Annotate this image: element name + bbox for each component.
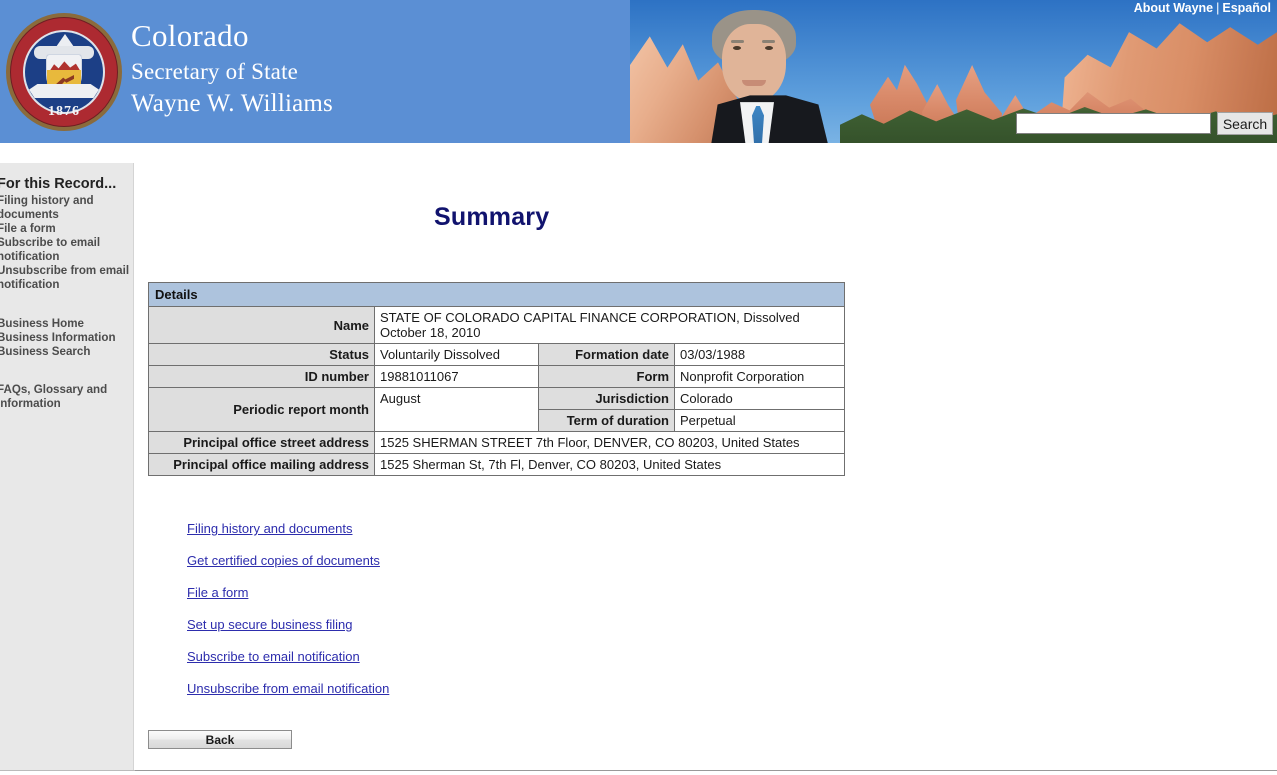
left-sidebar: For this Record... Filing history and do… [0, 163, 134, 770]
sidebar-item-business-home[interactable]: Business Home [0, 317, 134, 331]
label-jurisdiction: Jurisdiction [539, 388, 675, 410]
sidebar-item-subscribe-line2[interactable]: notification [0, 250, 134, 264]
value-status: Voluntarily Dissolved [375, 344, 539, 366]
sidebar-item-filing-history-line2[interactable]: documents [0, 208, 134, 222]
link-file-a-form[interactable]: File a form [187, 585, 248, 600]
table-row-id-form: ID number 19881011067 Form Nonprofit Cor… [149, 366, 845, 388]
label-street-address: Principal office street address [149, 432, 375, 454]
table-row-periodic-jurisdiction: Periodic report month August Jurisdictio… [149, 388, 845, 410]
sidebar-item-business-search[interactable]: Business Search [0, 345, 134, 359]
portrait-face [722, 24, 786, 102]
sidebar-spacer-1 [0, 292, 134, 317]
sidebar-item-unsubscribe-line2[interactable]: notification [0, 278, 134, 292]
value-street-address: 1525 SHERMAN STREET 7th Floor, DENVER, C… [375, 432, 845, 454]
table-row-status-formation: Status Voluntarily Dissolved Formation d… [149, 344, 845, 366]
value-form: Nonprofit Corporation [675, 366, 845, 388]
value-periodic-report-month: August [375, 388, 539, 432]
header-utility-links: About Wayne|Español [1134, 1, 1271, 15]
brand-line-office: Secretary of State [131, 60, 333, 83]
sidebar-item-faqs-line2[interactable]: Information [0, 397, 134, 411]
utility-link-separator: | [1213, 1, 1222, 15]
link-set-up-secure-business-filing[interactable]: Set up secure business filing [187, 617, 352, 632]
colorado-state-seal-icon: 1876 [6, 8, 122, 136]
site-header-banner: 1876 Colorado Secretary of State Wayne W… [0, 0, 1277, 143]
link-filing-history-and-documents[interactable]: Filing history and documents [187, 521, 352, 536]
sidebar-spacer-2 [0, 358, 134, 383]
sidebar-heading-for-this-record: For this Record... [0, 177, 134, 192]
search-button[interactable]: Search [1217, 112, 1273, 135]
label-term-of-duration: Term of duration [539, 410, 675, 432]
brand-line-colorado: Colorado [131, 20, 333, 51]
sidebar-bottom-divider [0, 770, 135, 771]
action-links-list: Filing history and documents Get certifi… [187, 521, 389, 713]
sidebar-item-filing-history-line1[interactable]: Filing history and [0, 194, 134, 208]
label-form: Form [539, 366, 675, 388]
sidebar-content: For this Record... Filing history and do… [0, 177, 134, 411]
portrait-brow-left [731, 40, 744, 43]
link-subscribe-email-notification[interactable]: Subscribe to email notification [187, 649, 360, 664]
portrait-eye-left [733, 46, 741, 50]
value-formation-date: 03/03/1988 [675, 344, 845, 366]
table-header-row: Details [149, 283, 845, 307]
table-row-street-address: Principal office street address 1525 SHE… [149, 432, 845, 454]
link-unsubscribe-email-notification[interactable]: Unsubscribe from email notification [187, 681, 389, 696]
value-jurisdiction: Colorado [675, 388, 845, 410]
sidebar-item-business-information[interactable]: Business Information [0, 331, 134, 345]
sidebar-item-faqs-line1[interactable]: FAQs, Glossary and [0, 383, 134, 397]
portrait-brow-right [762, 40, 775, 43]
value-mailing-address: 1525 Sherman St, 7th Fl, Denver, CO 8020… [375, 454, 845, 476]
table-row-name: Name STATE OF COLORADO CAPITAL FINANCE C… [149, 307, 845, 344]
label-id-number: ID number [149, 366, 375, 388]
search-input[interactable] [1016, 113, 1211, 134]
value-name: STATE OF COLORADO CAPITAL FINANCE CORPOR… [375, 307, 845, 344]
espanol-link[interactable]: Español [1222, 1, 1271, 15]
secretary-portrait [670, 6, 870, 143]
footer-divider [135, 770, 1277, 771]
portrait-mouth [742, 80, 766, 86]
back-button[interactable]: Back [148, 730, 292, 749]
site-branding: Colorado Secretary of State Wayne W. Wil… [131, 20, 333, 116]
table-row-mailing-address: Principal office mailing address 1525 Sh… [149, 454, 845, 476]
label-mailing-address: Principal office mailing address [149, 454, 375, 476]
portrait-eye-right [765, 46, 773, 50]
label-name: Name [149, 307, 375, 344]
seal-motto-ribbon [29, 84, 99, 98]
main-content: Summary Details Name STATE OF COLORADO C… [135, 143, 1277, 775]
about-wayne-link[interactable]: About Wayne [1134, 1, 1213, 15]
sidebar-item-unsubscribe-line1[interactable]: Unsubscribe from email [0, 264, 134, 278]
table-header-details: Details [149, 283, 845, 307]
sidebar-item-file-a-form[interactable]: File a form [0, 222, 134, 236]
sidebar-item-subscribe-line1[interactable]: Subscribe to email [0, 236, 134, 250]
label-formation-date: Formation date [539, 344, 675, 366]
label-status: Status [149, 344, 375, 366]
value-id-number: 19881011067 [375, 366, 539, 388]
page-title: Summary [434, 203, 549, 232]
label-periodic-report-month: Periodic report month [149, 388, 375, 432]
link-get-certified-copies[interactable]: Get certified copies of documents [187, 553, 380, 568]
portrait-tie [752, 106, 764, 143]
business-details-table: Details Name STATE OF COLORADO CAPITAL F… [148, 282, 845, 476]
value-term-of-duration: Perpetual [675, 410, 845, 432]
brand-line-name: Wayne W. Williams [131, 91, 333, 116]
